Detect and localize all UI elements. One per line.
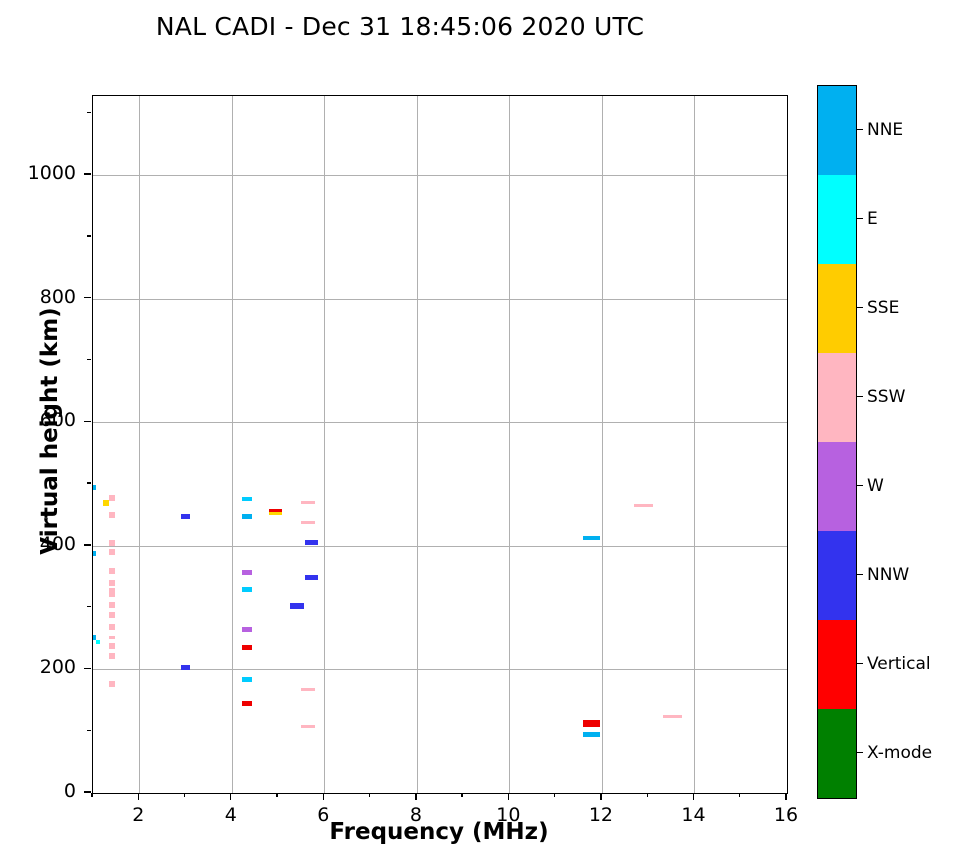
y-tick-minor [87, 359, 91, 360]
x-tick-major [600, 793, 601, 800]
echo-trace-point [96, 640, 100, 644]
echo-trace-point [663, 715, 682, 718]
echo-trace-point [103, 500, 109, 506]
x-tick-major [693, 793, 694, 800]
echo-trace-point [242, 645, 252, 650]
gridline-vertical [509, 96, 510, 793]
colorbar-tick [856, 574, 863, 575]
x-tick-minor [647, 793, 648, 797]
y-tick-major [84, 544, 91, 545]
page-title: NAL CADI - Dec 31 18:45:06 2020 UTC [0, 12, 800, 41]
colorbar-segment-nne [818, 86, 856, 175]
gridline-vertical [694, 96, 695, 793]
y-tick-minor [87, 112, 91, 113]
x-tick-minor [554, 793, 555, 797]
y-tick-major [84, 297, 91, 298]
x-tick-major [508, 793, 509, 800]
echo-trace-point [301, 688, 315, 691]
echo-trace-point [242, 587, 252, 592]
colorbar-segment-vertical [818, 620, 856, 709]
x-tick-minor [91, 793, 92, 797]
y-tick-major [84, 668, 91, 669]
x-tick-minor [461, 793, 462, 797]
x-tick-minor [276, 793, 277, 797]
echo-trace-point [109, 495, 115, 501]
x-tick-major [785, 793, 786, 800]
gridline-vertical [602, 96, 603, 793]
gridline-horizontal [93, 546, 787, 547]
x-tick-major [138, 793, 139, 800]
x-axis-label: Frequency (MHz) [92, 819, 786, 845]
echo-trace-point [634, 504, 653, 507]
y-tick-minor [87, 235, 91, 236]
echo-trace-point [109, 612, 115, 618]
colorbar-label-nne: NNE [867, 120, 903, 140]
colorbar-label-x-mode: X-mode [867, 743, 932, 763]
gridline-horizontal [93, 422, 787, 423]
y-tick-major [84, 421, 91, 422]
colorbar-segment-ssw [818, 353, 856, 442]
echo-trace-point [242, 514, 252, 519]
y-tick-minor [87, 606, 91, 607]
echo-trace-point [301, 521, 315, 524]
echo-trace-point [583, 732, 600, 737]
plot-canvas [93, 96, 787, 793]
echo-trace-point [242, 627, 252, 632]
echo-trace-point [109, 512, 115, 518]
colorbar-tick [856, 663, 863, 664]
echo-trace-point [242, 701, 252, 706]
colorbar-segment-w [818, 442, 856, 531]
echo-trace-point [109, 636, 115, 639]
echo-trace-point [242, 497, 252, 501]
colorbar-label-vertical: Vertical [867, 654, 931, 674]
colorbar-tick [856, 752, 863, 753]
echo-trace-point [181, 665, 190, 670]
colorbar-label-w: W [867, 476, 884, 496]
colorbar-tick [856, 129, 863, 130]
x-tick-major [230, 793, 231, 800]
echo-trace-point [269, 512, 282, 515]
echo-trace-point [109, 568, 115, 574]
echo-trace-point [290, 603, 304, 609]
y-axis-label: Virtual height (km) [37, 251, 63, 611]
echo-trace-point [301, 725, 315, 728]
echo-trace-point [583, 536, 600, 540]
y-tick-minor [87, 730, 91, 731]
colorbar [817, 85, 857, 799]
echo-trace-point [109, 681, 115, 687]
y-tick-major [84, 791, 91, 792]
echo-trace-point [181, 514, 190, 519]
gridline-vertical [232, 96, 233, 793]
echo-trace-point [305, 540, 318, 545]
y-tick-label: 0 [6, 780, 76, 802]
colorbar-tick [856, 218, 863, 219]
x-tick-major [323, 793, 324, 800]
echo-trace-point [301, 501, 315, 504]
echo-trace-point [109, 588, 115, 597]
colorbar-tick [856, 485, 863, 486]
colorbar-label-ssw: SSW [867, 387, 905, 407]
colorbar-label-sse: SSE [867, 298, 899, 318]
x-tick-major [415, 793, 416, 800]
y-tick-minor [87, 482, 91, 483]
echo-trace-point [109, 540, 115, 546]
echo-trace-point [109, 624, 115, 630]
gridline-vertical [139, 96, 140, 793]
echo-trace-point [109, 602, 115, 608]
gridline-horizontal [93, 175, 787, 176]
colorbar-segment-e [818, 175, 856, 264]
y-tick-label: 200 [6, 656, 76, 678]
colorbar-tick [856, 307, 863, 308]
gridline-vertical [417, 96, 418, 793]
y-tick-major [84, 173, 91, 174]
x-tick-minor [369, 793, 370, 797]
echo-trace-point [583, 720, 600, 727]
gridline-horizontal [93, 669, 787, 670]
gridline-vertical [324, 96, 325, 793]
echo-trace-point [242, 570, 252, 575]
x-tick-minor [184, 793, 185, 797]
echo-trace-point [109, 580, 115, 586]
echo-trace-point [242, 677, 252, 682]
colorbar-segment-x-mode [818, 709, 856, 798]
x-tick-minor [739, 793, 740, 797]
gridline-horizontal [93, 299, 787, 300]
plot-axes [92, 95, 788, 794]
echo-trace-point [109, 643, 115, 649]
colorbar-segment-sse [818, 264, 856, 353]
echo-trace-point [93, 485, 96, 490]
echo-trace-point [305, 575, 318, 580]
echo-trace-point [93, 551, 96, 556]
y-tick-label: 1000 [6, 162, 76, 184]
colorbar-tick [856, 396, 863, 397]
colorbar-label-nnw: NNW [867, 565, 909, 585]
echo-trace-point [109, 653, 115, 659]
colorbar-label-e: E [867, 209, 878, 229]
echo-trace-point [109, 549, 115, 555]
colorbar-segment-nnw [818, 531, 856, 620]
